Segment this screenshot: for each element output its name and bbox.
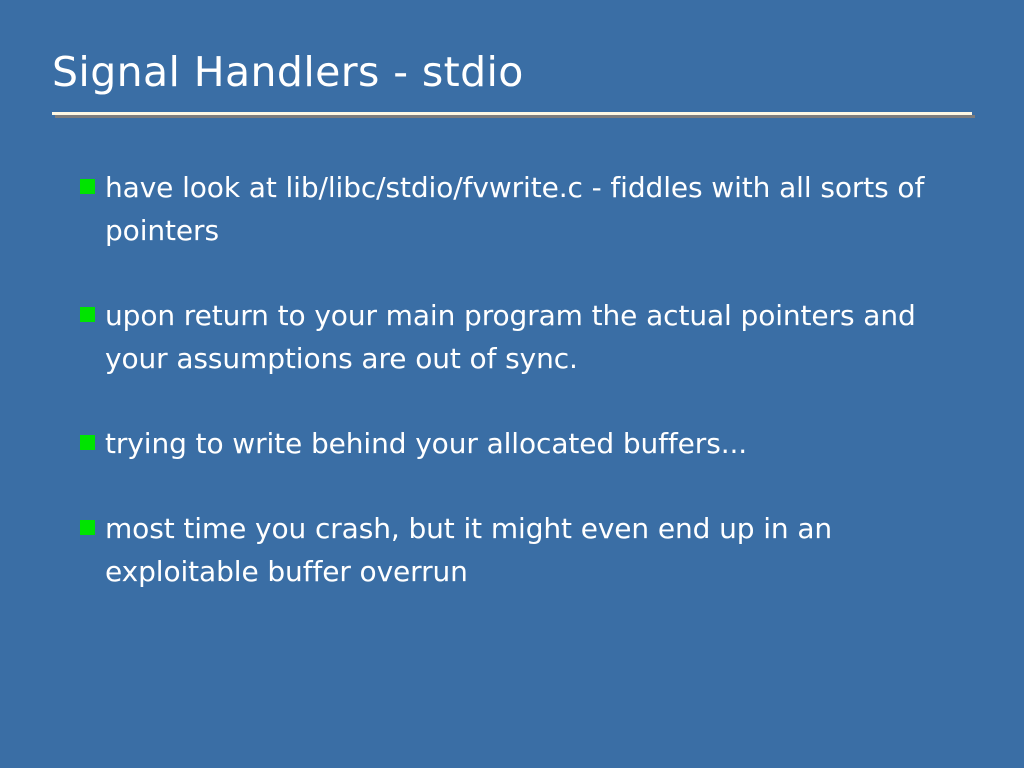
list-item: most time you crash, but it might even e…: [80, 507, 960, 593]
list-item-text: have look at lib/libc/stdio/fvwrite.c - …: [105, 166, 937, 252]
green-square-bullet-icon: [80, 179, 95, 194]
bullet-list: have look at lib/libc/stdio/fvwrite.c - …: [80, 166, 960, 635]
list-item: trying to write behind your allocated bu…: [80, 422, 960, 465]
title-block: Signal Handlers - stdio: [52, 46, 972, 98]
list-item: have look at lib/libc/stdio/fvwrite.c - …: [80, 166, 960, 252]
list-item: upon return to your main program the act…: [80, 294, 960, 380]
title-divider-rule-shadow: [55, 115, 975, 118]
presentation-slide: Signal Handlers - stdio have look at lib…: [0, 0, 1024, 768]
list-item-text: upon return to your main program the act…: [105, 294, 937, 380]
green-square-bullet-icon: [80, 520, 95, 535]
green-square-bullet-icon: [80, 307, 95, 322]
green-square-bullet-icon: [80, 435, 95, 450]
list-item-text: trying to write behind your allocated bu…: [105, 422, 937, 465]
slide-title: Signal Handlers - stdio: [52, 46, 972, 98]
list-item-text: most time you crash, but it might even e…: [105, 507, 937, 593]
